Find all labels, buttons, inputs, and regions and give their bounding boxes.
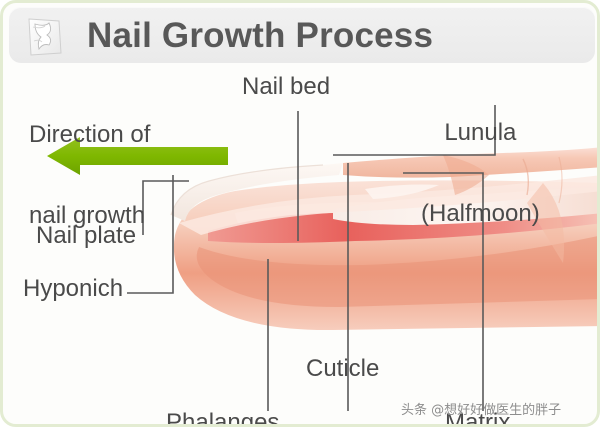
label-direction-of-nail-growth: Direction of nail growth [29,67,150,283]
label-lunula: Lunula (Halfmoon) [421,65,540,281]
label-cuticle: Cuticle [306,355,379,382]
label-direction-line1: Direction of [29,121,150,148]
label-nail-plate: Nail plate [36,222,136,249]
torn-paper-icon [23,15,67,59]
label-lunula-line2: (Halfmoon) [421,200,540,227]
watermark: 头条 @想好好做医生的胖子 [401,399,561,418]
label-hyponich: Hyponich [23,275,123,302]
page-title: Nail Growth Process [87,11,567,61]
diagram-frame: Nail Growth Process [0,0,600,427]
label-phalanges-line1: Phalanges [166,409,279,427]
label-lunula-line1: Lunula [421,119,540,146]
label-phalanges: Phalanges (Bone) [166,355,279,427]
header-bar: Nail Growth Process [9,7,595,63]
label-nail-bed: Nail bed [242,73,330,100]
